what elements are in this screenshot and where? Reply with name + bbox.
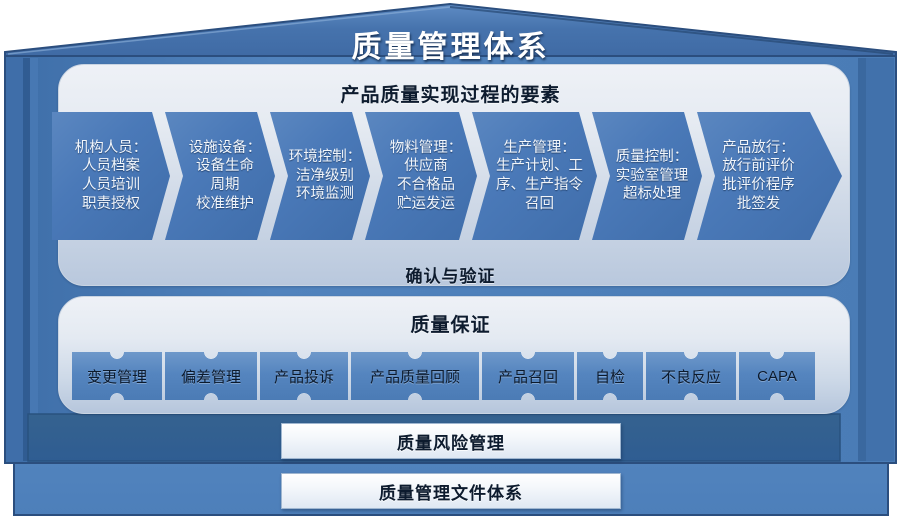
diagram-title: 质量管理体系 (0, 22, 901, 66)
process-step-5[interactable]: 生产管理： 生产计划、工 序、生产指令 召回 (472, 112, 597, 240)
qa-item-2[interactable]: 偏差管理 (165, 352, 257, 400)
qa-item-label: 变更管理 (87, 366, 147, 387)
qa-item-label: 产品投诉 (274, 366, 334, 387)
qa-item-1[interactable]: 变更管理 (72, 352, 162, 400)
process-step-label: 产品放行： 放行前评价 批评价程序 批签发 (718, 139, 799, 213)
process-step-label: 设施设备： 设备生命 周期 校准维护 (185, 139, 266, 213)
qa-item-7[interactable]: 不良反应 (646, 352, 736, 400)
qa-item-8[interactable]: CAPA (739, 352, 815, 400)
process-elements-title: 产品质量实现过程的要素 (0, 80, 901, 107)
right-wall-stripe (866, 58, 894, 461)
qa-item-label: 自检 (595, 366, 625, 387)
qa-item-5[interactable]: 产品召回 (482, 352, 574, 400)
process-step-label: 环境控制： 洁净级别 环境监测 (285, 148, 366, 204)
quality-assurance-title: 质量保证 (0, 310, 901, 337)
process-step-1[interactable]: 机构人员： 人员档案 人员培训 职责授权 (52, 112, 170, 240)
qa-item-label: 不良反应 (661, 366, 721, 387)
foundation-bar-document-system: 质量管理文件体系 (281, 473, 621, 509)
qa-item-label: 偏差管理 (181, 366, 241, 387)
foundation-bar-risk-management: 质量风险管理 (281, 423, 621, 459)
qa-item-label: CAPA (757, 368, 797, 385)
qa-item-6[interactable]: 自检 (577, 352, 643, 400)
process-step-label: 物料管理： 供应商 不合格品 贮运发运 (386, 139, 467, 213)
process-step-label: 机构人员： 人员档案 人员培训 职责授权 (71, 139, 152, 213)
quality-assurance-item-row: 变更管理偏差管理产品投诉产品质量回顾产品召回自检不良反应CAPA (72, 352, 815, 400)
qa-item-label: 产品召回 (498, 366, 558, 387)
process-step-label: 生产管理： 生产计划、工 序、生产指令 召回 (492, 139, 587, 213)
left-wall-stripe (7, 58, 23, 461)
qa-item-label: 产品质量回顾 (370, 366, 460, 387)
qa-item-4[interactable]: 产品质量回顾 (351, 352, 479, 400)
quality-management-system-diagram: 质量管理体系 产品质量实现过程的要素 机构人员： 人员档案 人员培训 职责授权设… (0, 0, 901, 523)
qa-item-3[interactable]: 产品投诉 (260, 352, 348, 400)
process-step-label: 质量控制： 实验室管理 超标处理 (612, 148, 693, 204)
validation-band-label: 确认与验证 (0, 262, 901, 287)
